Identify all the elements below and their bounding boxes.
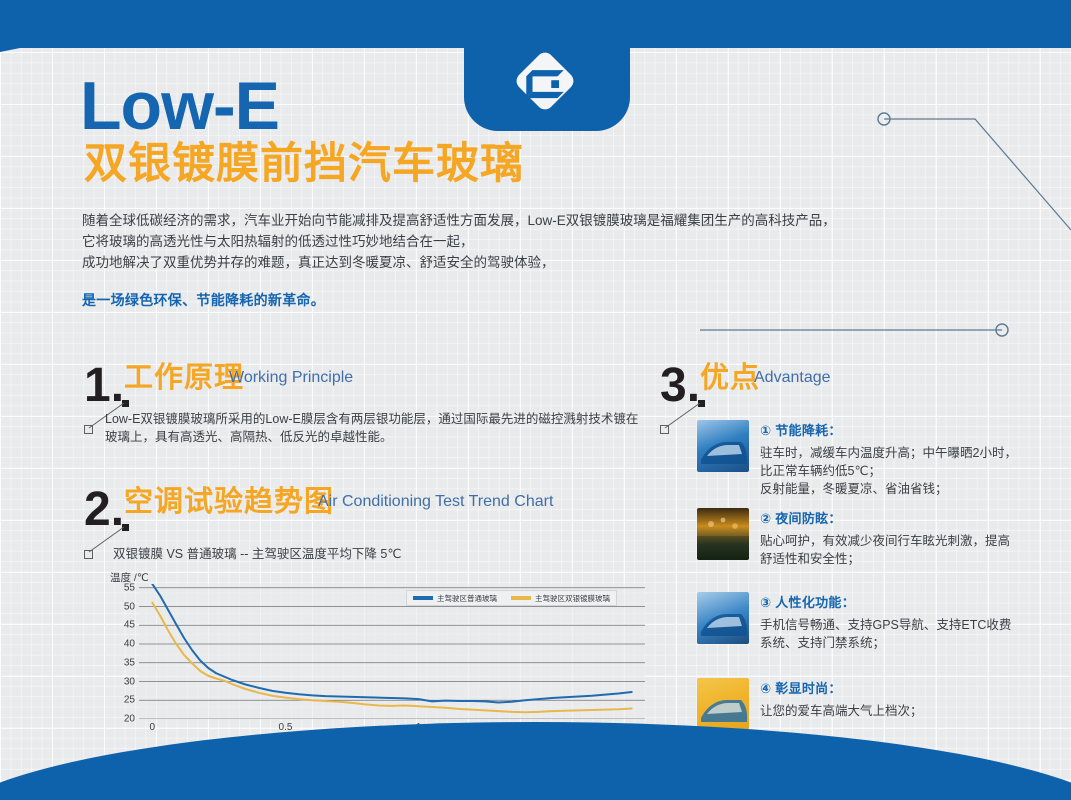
- section-2-title-cn: 空调试验趋势图: [124, 488, 334, 517]
- chart-y-tick-label: 25: [124, 695, 135, 706]
- advantage-item-title: ① 节能降耗：: [760, 420, 1017, 439]
- chart-y-tick-label: 35: [124, 657, 135, 668]
- legend-swatch-0: [413, 596, 433, 600]
- advantage-item-line: 比正常车辆约低5℃；: [760, 462, 1017, 480]
- advantage-item-body: ② 夜间防眩：贴心呵护，有效减少夜间行车眩光刺激，提高舒适性和安全性；: [760, 508, 1010, 568]
- advantage-item-title: ③ 人性化功能：: [760, 592, 1011, 611]
- chart-y-tick-label: 40: [124, 639, 135, 650]
- advantage-item-body: ④ 彰显时尚：让您的爱车高端大气上档次；: [760, 678, 923, 730]
- advantage-item-4: ④ 彰显时尚：让您的爱车高端大气上档次；: [697, 678, 923, 730]
- car-sun-heat-thumbnail: [697, 420, 749, 472]
- advantage-item-body: ① 节能降耗：驻车时，减缓车内温度升高；中午曝晒2小时，比正常车辆约低5℃；反射…: [760, 420, 1017, 498]
- advantage-item-title: ④ 彰显时尚：: [760, 678, 923, 697]
- car-signal-gps-thumbnail: [697, 592, 749, 644]
- advantage-item-body: ③ 人性化功能：手机信号畅通、支持GPS导航、支持ETC收费系统、支持门禁系统；: [760, 592, 1011, 652]
- chart-y-tick-label: 20: [124, 714, 135, 725]
- chart-legend: 主驾驶区普通玻璃 主驾驶区双银镀膜玻璃: [406, 590, 617, 606]
- fuyao-group-logo: [506, 42, 584, 120]
- advantage-item-lines: 让您的爱车高端大气上档次；: [760, 702, 923, 720]
- legend-label-1: 主驾驶区双银镀膜玻璃: [535, 593, 610, 604]
- section-1-body-line-1: Low-E双银镀膜玻璃所采用的Low-E膜层含有两层银功能层，通过国际最先进的磁…: [105, 410, 638, 428]
- chart-x-tick-label: 0: [150, 722, 156, 733]
- chart-caption: 双银镀膜 VS 普通玻璃 -- 主驾驶区温度平均下降 5℃: [113, 545, 401, 563]
- chart-y-tick-label: 30: [124, 676, 135, 687]
- advantage-item-line: 让您的爱车高端大气上档次；: [760, 702, 923, 720]
- chart-y-tick-label: 55: [124, 582, 135, 593]
- advantage-item-3: ③ 人性化功能：手机信号畅通、支持GPS导航、支持ETC收费系统、支持门禁系统；: [697, 592, 1011, 652]
- chart-y-tick-label: 50: [124, 601, 135, 612]
- advantage-item-lines: 贴心呵护，有效减少夜间行车眩光刺激，提高舒适性和安全性；: [760, 532, 1010, 568]
- advantage-item-line: 驻车时，减缓车内温度升高；中午曝晒2小时，: [760, 444, 1017, 462]
- advantage-item-lines: 手机信号畅通、支持GPS导航、支持ETC收费系统、支持门禁系统；: [760, 616, 1011, 652]
- intro-tagline: 是一场绿色环保、节能降耗的新革命。: [82, 290, 325, 310]
- section-1-body-line-2: 玻璃上，具有高透光、高隔热、低反光的卓越性能。: [105, 428, 638, 446]
- blue-car-style-thumbnail: [697, 678, 749, 730]
- legend-label-0: 主驾驶区普通玻璃: [437, 593, 497, 604]
- intro-line-1: 随着全球低碳经济的需求，汽车业开始向节能减排及提高舒适性方面发展，Low-E双银…: [82, 210, 962, 231]
- intro-line-3: 成功地解决了双重优势并存的难题，真正达到冬暖夏凉、舒适安全的驾驶体验，: [82, 252, 962, 273]
- advantage-item-1: ① 节能降耗：驻车时，减缓车内温度升高；中午曝晒2小时，比正常车辆约低5℃；反射…: [697, 420, 1017, 498]
- night-glare-thumbnail: [697, 508, 749, 560]
- advantage-item-title: ② 夜间防眩：: [760, 508, 1010, 527]
- section-1-title-cn: 工作原理: [124, 364, 244, 393]
- poster-canvas: Low-E 双银镀膜前挡汽车玻璃 随着全球低碳经济的需求，汽车业开始向节能减排及…: [0, 0, 1071, 800]
- bottom-blue-bar: [0, 790, 1071, 800]
- intro-line-2: 它将玻璃的高透光性与太阳热辐射的低透过性巧妙地结合在一起，: [82, 231, 962, 252]
- intro-paragraph: 随着全球低碳经济的需求，汽车业开始向节能减排及提高舒适性方面发展，Low-E双银…: [82, 210, 962, 273]
- legend-item-0: 主驾驶区普通玻璃: [413, 593, 497, 604]
- section-1-title-en: Working Principle: [229, 370, 353, 386]
- chart-y-tick-label: 45: [124, 620, 135, 631]
- legend-swatch-1: [511, 596, 531, 600]
- page-title: Low-E: [80, 72, 279, 140]
- advantage-item-line: 系统、支持门禁系统；: [760, 634, 1011, 652]
- advantage-item-lines: 驻车时，减缓车内温度升高；中午曝晒2小时，比正常车辆约低5℃；反射能量，冬暖夏凉…: [760, 444, 1017, 498]
- advantage-item-line: 手机信号畅通、支持GPS导航、支持ETC收费: [760, 616, 1011, 634]
- advantage-item-line: 反射能量，冬暖夏凉、省油省钱；: [760, 480, 1017, 498]
- advantage-item-line: 舒适性和安全性；: [760, 550, 1010, 568]
- advantage-item-2: ② 夜间防眩：贴心呵护，有效减少夜间行车眩光刺激，提高舒适性和安全性；: [697, 508, 1010, 568]
- section-2-title-en: Air Conditioning Test Trend Chart: [318, 494, 553, 510]
- section-1-body: Low-E双银镀膜玻璃所采用的Low-E膜层含有两层银功能层，通过国际最先进的磁…: [105, 410, 638, 446]
- legend-item-1: 主驾驶区双银镀膜玻璃: [511, 593, 610, 604]
- advantage-item-line: 贴心呵护，有效减少夜间行车眩光刺激，提高: [760, 532, 1010, 550]
- section-3-title-en: Advantage: [754, 370, 831, 386]
- chart-series-line-1: [152, 603, 631, 713]
- page-subtitle: 双银镀膜前挡汽车玻璃: [84, 143, 524, 186]
- section-3-title-cn: 优点: [700, 364, 760, 393]
